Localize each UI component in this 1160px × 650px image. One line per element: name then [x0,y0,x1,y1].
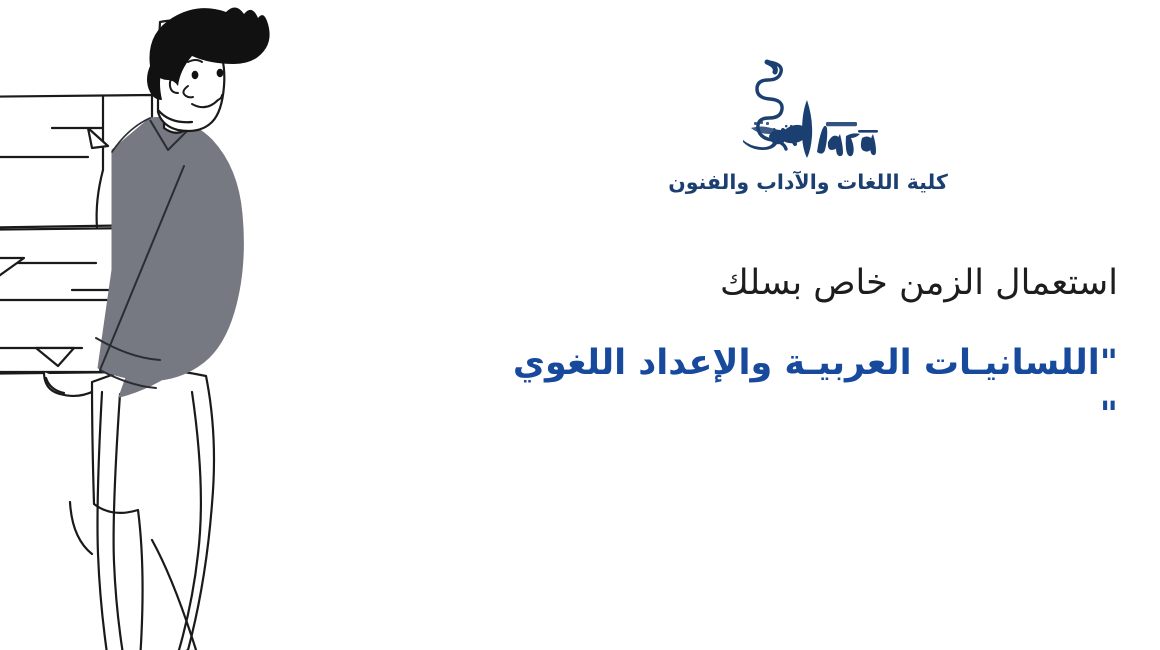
program-title: "اللسانيـات العربيـة والإعداد اللغوي " [498,337,1118,442]
man-hair [147,7,270,100]
headings-block: استعمال الزمن خاص بسلك "اللسانيـات العرب… [498,258,1118,442]
faculty-name: كلية اللغات والآداب والفنون [498,170,1118,196]
man-sweater [98,117,243,380]
man-carrying-stack-of-books-illustration [0,0,300,650]
subject-line: استعمال الزمن خاص بسلك [498,258,1118,309]
man-collar [150,120,194,150]
ibn-tofail-university-logo-icon [733,56,883,164]
man-arm [96,166,228,398]
slide-root: كلية اللغات والآداب والفنون استعمال الزم… [0,0,1160,650]
content-column: كلية اللغات والآداب والفنون استعمال الزم… [498,0,1118,650]
man-facial-features [170,58,226,107]
university-branding: كلية اللغات والآداب والفنون [498,56,1118,196]
man-hand [44,372,94,396]
book-stack [0,95,152,374]
man-trousers [70,370,214,650]
man-sweater-outline [112,118,150,152]
man-face [158,20,224,131]
man-neck [164,92,194,133]
